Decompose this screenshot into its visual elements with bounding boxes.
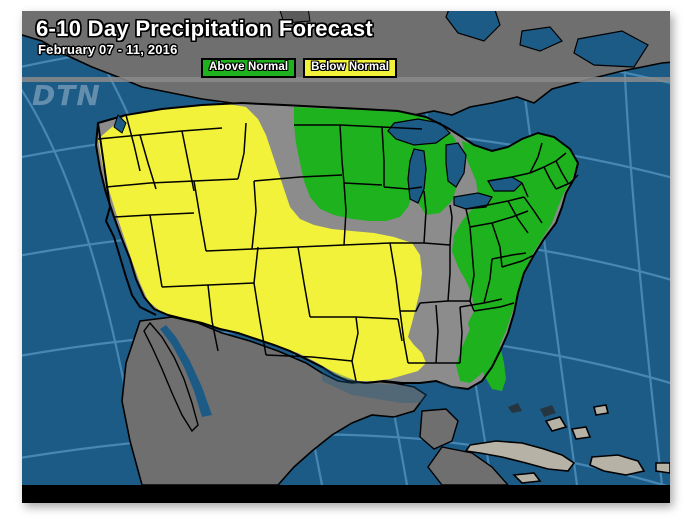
legend-item-above-normal[interactable]: Above Normal bbox=[201, 58, 296, 78]
image-bottom-bar bbox=[22, 485, 670, 503]
map-image-frame: DTN 6-10 Day Precipitation Forecast Febr… bbox=[22, 11, 670, 503]
screenshot-root: DTN 6-10 Day Precipitation Forecast Febr… bbox=[0, 0, 692, 532]
island-bahamas-2 bbox=[572, 427, 590, 439]
island-bahamas-3 bbox=[594, 405, 608, 415]
island-puerto-rico bbox=[656, 463, 670, 473]
legend: Above Normal Below Normal bbox=[201, 58, 397, 78]
legend-item-below-normal[interactable]: Below Normal bbox=[303, 58, 397, 78]
precipitation-forecast-map[interactable] bbox=[22, 11, 670, 485]
map-viewport[interactable]: DTN 6-10 Day Precipitation Forecast Febr… bbox=[22, 11, 670, 485]
